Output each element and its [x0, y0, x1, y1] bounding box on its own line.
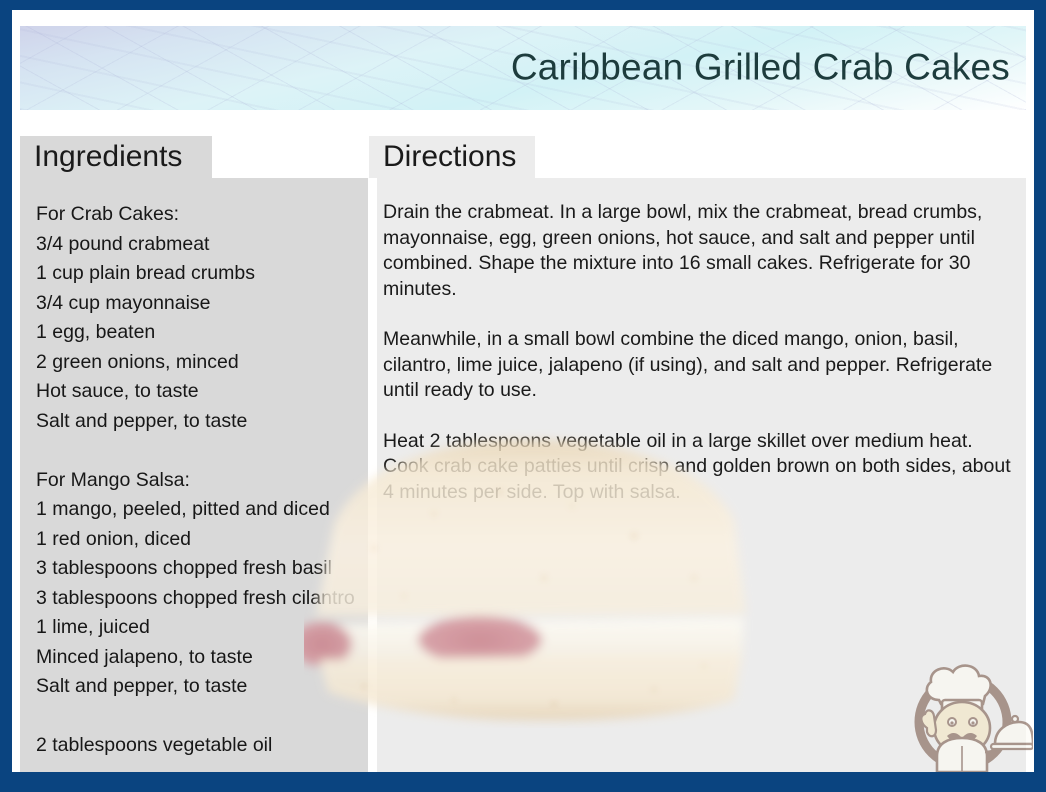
direction-paragraph: Heat 2 tablespoons vegetable oil in a la… — [383, 429, 1016, 506]
ingredient-line: Minced jalapeno, to taste — [36, 643, 356, 673]
directions-heading: Directions — [369, 136, 535, 178]
ingredient-line: 1 red onion, diced — [36, 525, 356, 555]
ingredient-line: 2 green onions, minced — [36, 348, 356, 378]
ingredient-line: 2 tablespoons vegetable oil — [36, 731, 356, 761]
page-title: Caribbean Grilled Crab Cakes — [511, 49, 1010, 88]
direction-paragraph: Meanwhile, in a small bowl combine the d… — [383, 327, 1016, 404]
direction-paragraph: Drain the crabmeat. In a large bowl, mix… — [383, 200, 1016, 302]
ingredient-line: 3/4 pound crabmeat — [36, 230, 356, 260]
ingredient-line: 3 tablespoons chopped fresh cilantro — [36, 584, 356, 614]
ingredient-spacer — [36, 702, 356, 732]
title-banner: Caribbean Grilled Crab Cakes — [20, 26, 1026, 110]
ingredients-heading: Ingredients — [20, 136, 212, 178]
ingredient-line: 1 egg, beaten — [36, 318, 356, 348]
ingredient-line: Salt and pepper, to taste — [36, 407, 356, 437]
ingredient-line: 1 cup plain bread crumbs — [36, 259, 356, 289]
ingredient-spacer — [36, 436, 356, 466]
ingredients-panel: For Crab Cakes: 3/4 pound crabmeat 1 cup… — [20, 178, 368, 772]
ingredient-line: 3/4 cup mayonnaise — [36, 289, 356, 319]
ingredient-line: 3 tablespoons chopped fresh basil — [36, 554, 356, 584]
recipe-page: Caribbean Grilled Crab Cakes Ingredients… — [12, 10, 1034, 772]
ingredient-line: For Mango Salsa: — [36, 466, 356, 496]
ingredient-line: Hot sauce, to taste — [36, 377, 356, 407]
directions-panel: Drain the crabmeat. In a large bowl, mix… — [377, 178, 1026, 772]
ingredient-line: 1 lime, juiced — [36, 613, 356, 643]
ingredient-line: 1 mango, peeled, pitted and diced — [36, 495, 356, 525]
recipe-card: Caribbean Grilled Crab Cakes Ingredients… — [0, 0, 1046, 792]
ingredient-line: Salt and pepper, to taste — [36, 672, 356, 702]
ingredient-line: For Crab Cakes: — [36, 200, 356, 230]
